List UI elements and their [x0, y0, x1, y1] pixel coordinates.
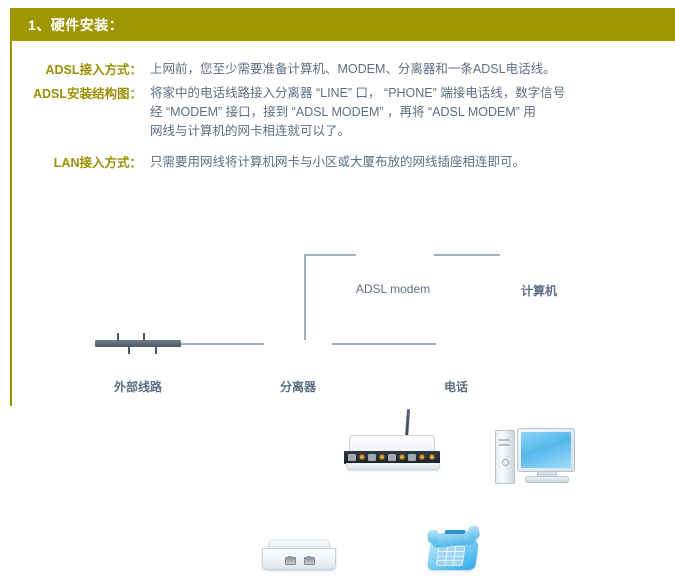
keypad-key	[447, 552, 455, 556]
caption-adsl-modem: ADSL modem	[337, 282, 449, 296]
hardware-installation-page: 1、硬件安装： ADSL接入方式： 上网前，您至少需要准备计算机、MODEM、分…	[0, 0, 675, 423]
modem-port-icon	[408, 454, 416, 461]
caption-computer: 计算机	[484, 282, 594, 299]
paragraph-line: 经 “MODEM” 接口，接到 “ADSL MODEM” ，再将 “ADSL M…	[150, 103, 670, 122]
monitor-icon	[517, 428, 575, 472]
wire-modem-to-computer	[434, 254, 500, 256]
keypad-key	[439, 547, 447, 551]
monitor-screen	[521, 432, 571, 468]
paragraph-lan-access: LAN接入方式： 只需要用网线将计算机网卡与小区或大厦布放的网线插座相连即可。	[10, 153, 670, 173]
modem-base	[346, 463, 440, 470]
paragraph-label-lan-access: LAN接入方式：	[10, 153, 142, 173]
tower-slot	[499, 444, 510, 446]
keypad-key	[437, 557, 445, 561]
paragraph-line: 网线与计算机的网卡相连就可以了。	[150, 122, 670, 141]
keypad-key	[437, 561, 445, 565]
modem-led-icon	[360, 455, 364, 459]
line-tick-icon	[143, 333, 145, 341]
adsl-wiring-diagram: 外部线路 分离器 电话 ADSL modem 计算机	[10, 206, 675, 406]
modem-body	[344, 431, 440, 471]
keypad-key	[438, 552, 446, 556]
modem-led-icon	[400, 455, 404, 459]
tower-slot	[499, 439, 510, 441]
adsl-modem-device-icon	[344, 431, 440, 471]
splitter-device-icon	[262, 539, 334, 569]
paragraph-adsl-access: ADSL接入方式： 上网前，您至少需要准备计算机、MODEM、分离器和一条ADS…	[10, 60, 670, 80]
paragraph-label-adsl-access: ADSL接入方式：	[10, 60, 142, 80]
monitor-foot	[525, 476, 569, 483]
pc-tower-icon	[495, 430, 515, 484]
paragraph-adsl-structure: ADSL安装结构图： 将家中的电话线路接入分离器 “LINE” 口， “PHON…	[10, 84, 670, 141]
paragraph-line: 上网前，您至少需要准备计算机、MODEM、分离器和一条ADSL电话线。	[150, 60, 670, 79]
telephone-device-icon	[425, 524, 487, 576]
line-tick-icon	[155, 346, 157, 354]
splitter-phone-jack-icon	[304, 557, 315, 565]
computer-device-icon	[495, 428, 581, 484]
paragraph-body-adsl-structure: 将家中的电话线路接入分离器 “LINE” 口， “PHONE” 端接电话线，数字…	[150, 84, 670, 141]
wire-splitter-to-modem-horizontal	[304, 254, 356, 256]
paragraph-line: 将家中的电话线路接入分离器 “LINE” 口， “PHONE” 端接电话线，数字…	[150, 84, 670, 103]
wire-external-to-splitter	[180, 343, 264, 345]
modem-led-icon	[430, 455, 434, 459]
keypad-key	[455, 557, 463, 561]
page-title: 1、硬件安装：	[28, 15, 123, 35]
line-tick-icon	[128, 346, 130, 354]
modem-led-icon	[420, 455, 424, 459]
modem-port-icon	[348, 454, 356, 461]
telephone-body	[425, 524, 487, 576]
paragraph-label-adsl-structure: ADSL安装结构图：	[10, 84, 142, 104]
keypad-key	[455, 552, 463, 556]
instructions-block: ADSL接入方式： 上网前，您至少需要准备计算机、MODEM、分离器和一条ADS…	[10, 52, 670, 177]
keypad-key	[446, 557, 454, 561]
modem-led-icon	[380, 455, 384, 459]
telephone-keypad-icon	[436, 546, 466, 566]
section-header-bar: 1、硬件安装：	[10, 8, 675, 41]
paragraph-body-lan-access: 只需要用网线将计算机网卡与小区或大厦布放的网线插座相连即可。	[150, 153, 670, 172]
keypad-key	[454, 561, 462, 565]
caption-external-line: 外部线路	[83, 378, 193, 395]
splitter-line-jack-icon	[285, 557, 296, 565]
splitter-front-face	[262, 548, 336, 570]
paragraph-body-adsl-access: 上网前，您至少需要准备计算机、MODEM、分离器和一条ADSL电话线。	[150, 60, 670, 79]
computer-body	[495, 428, 581, 484]
external-line-icon	[95, 340, 181, 347]
modem-port-icon	[368, 454, 376, 461]
paragraph-line: 只需要用网线将计算机网卡与小区或大厦布放的网线插座相连即可。	[150, 153, 670, 172]
splitter-body	[262, 539, 334, 569]
caption-splitter: 分离器	[243, 378, 353, 395]
keypad-key	[456, 547, 464, 551]
line-tick-icon	[117, 333, 119, 341]
wire-splitter-to-telephone	[332, 343, 436, 345]
modem-port-icon	[388, 454, 396, 461]
caption-telephone: 电话	[401, 378, 511, 395]
power-button-icon	[502, 459, 509, 466]
telephone-display	[445, 530, 466, 534]
keypad-key	[447, 547, 455, 551]
keypad-key	[445, 561, 453, 565]
wire-splitter-to-modem-vertical	[304, 254, 306, 340]
